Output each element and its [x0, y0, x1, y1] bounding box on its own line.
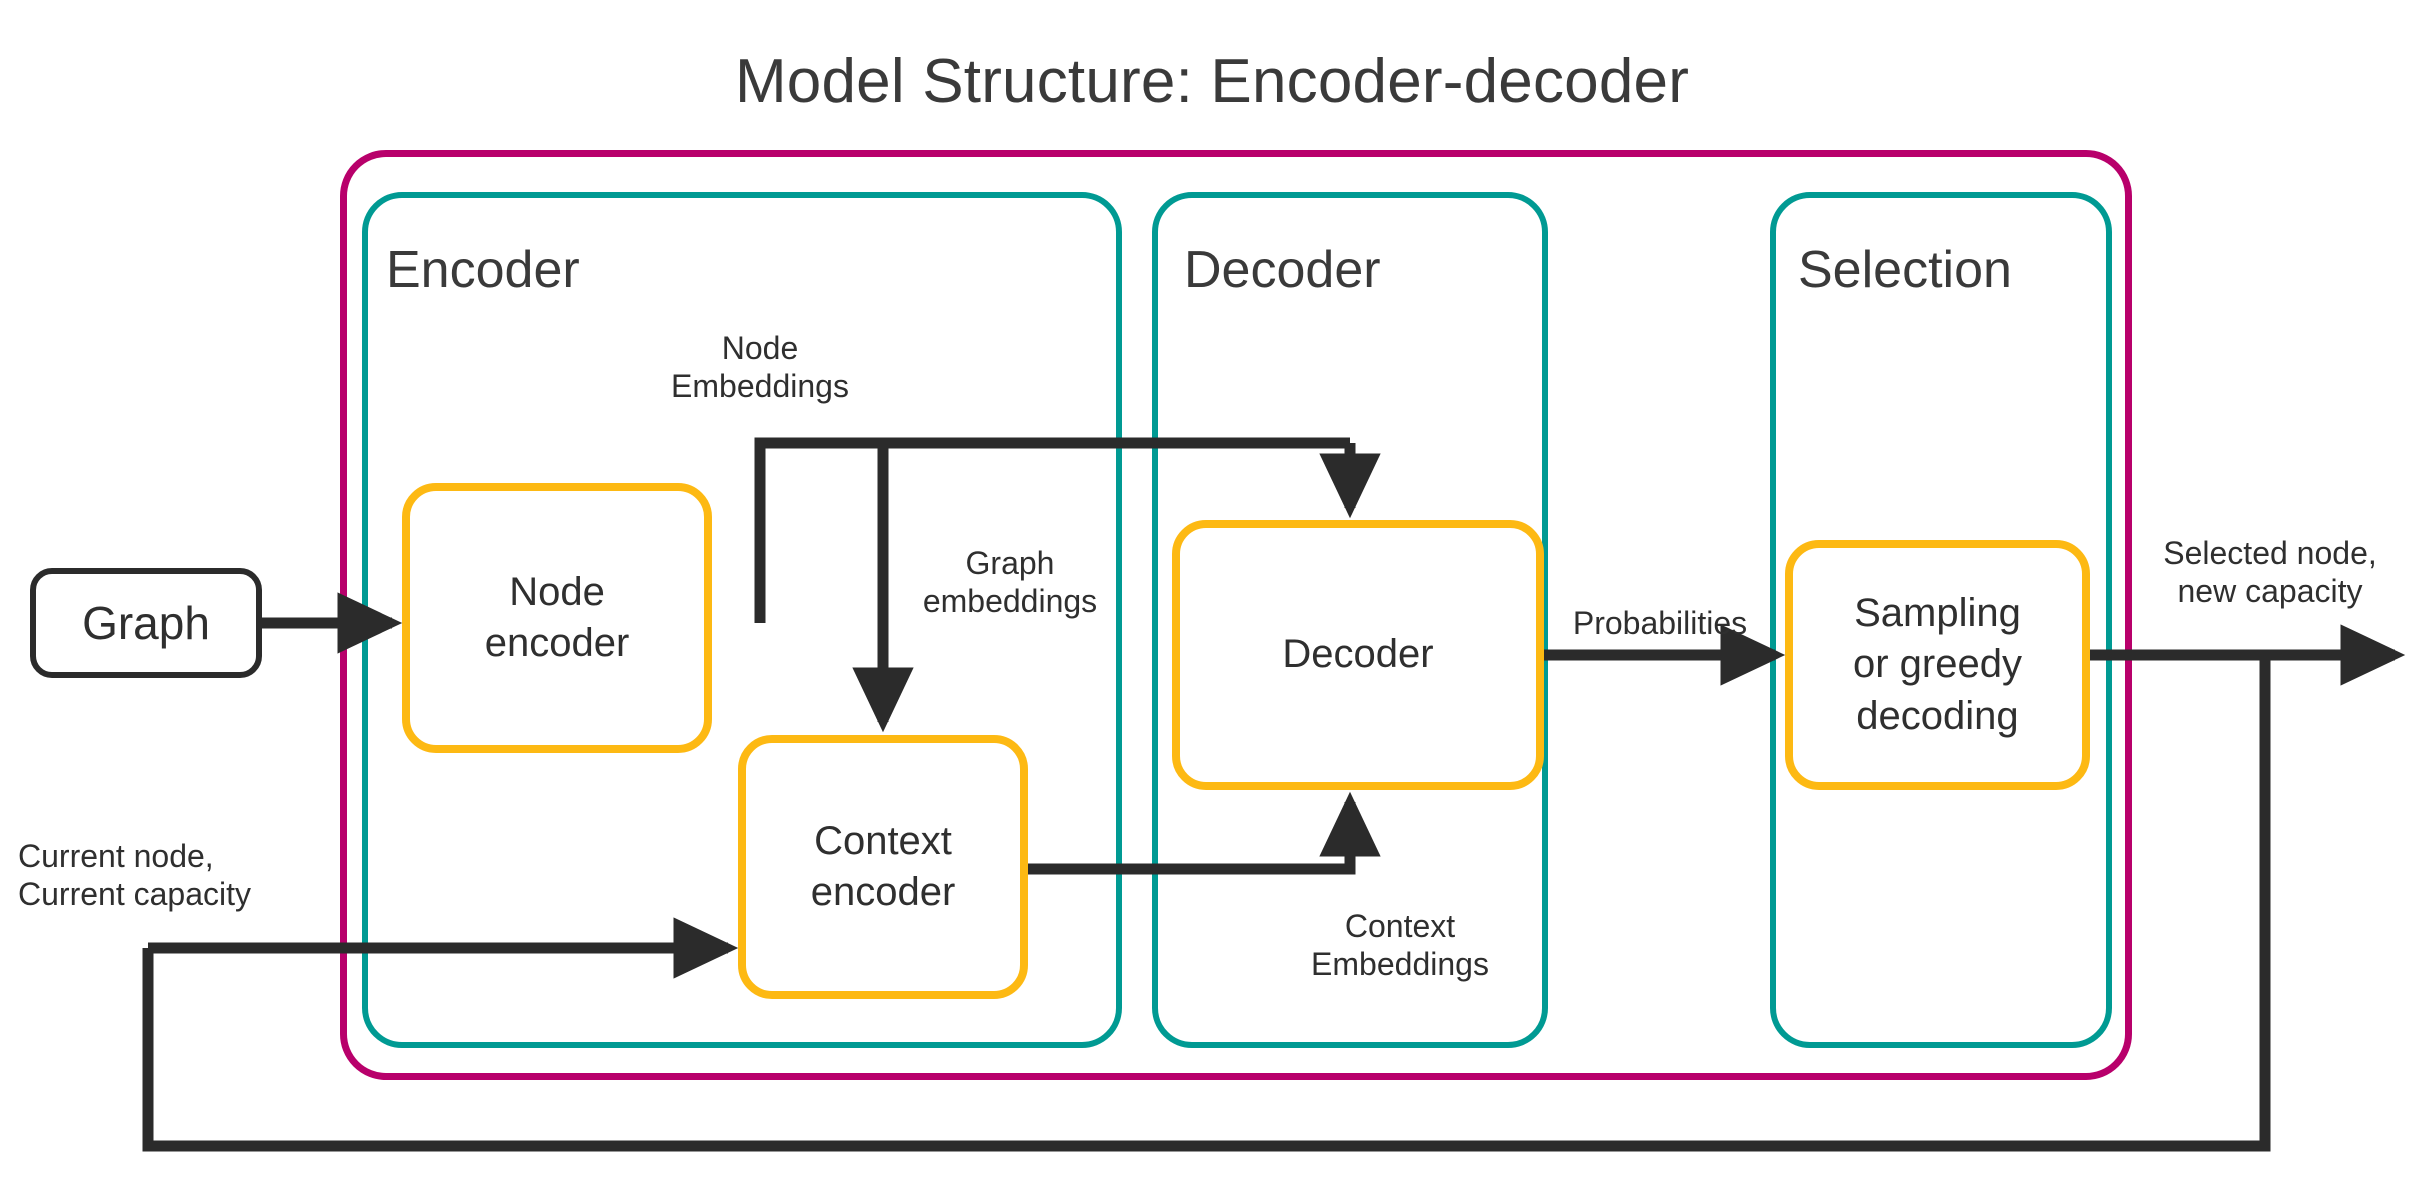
stage-title-selection: Selection	[1798, 240, 2012, 300]
diagram-canvas: Model Structure: Encoder-decoder Encoder…	[0, 0, 2424, 1183]
graph-input-box[interactable]: Graph	[30, 568, 262, 678]
label-selected-node: Selected node, new capacity	[2120, 535, 2420, 611]
label-context-embeddings: Context Embeddings	[1270, 908, 1530, 984]
page-title: Model Structure: Encoder-decoder	[0, 46, 2424, 117]
sampling-box[interactable]: Sampling or greedy decoding	[1785, 540, 2090, 790]
decoder-box[interactable]: Decoder	[1172, 520, 1544, 790]
label-node-embeddings: Node Embeddings	[650, 330, 870, 406]
label-probabilities: Probabilities	[1540, 605, 1780, 643]
context-encoder-box[interactable]: Context encoder	[738, 735, 1028, 999]
node-encoder-box[interactable]: Node encoder	[402, 483, 712, 753]
label-current-node: Current node, Current capacity	[18, 838, 358, 914]
stage-title-encoder: Encoder	[386, 240, 580, 300]
stage-title-decoder: Decoder	[1184, 240, 1381, 300]
label-graph-embeddings: Graph embeddings	[900, 545, 1120, 621]
